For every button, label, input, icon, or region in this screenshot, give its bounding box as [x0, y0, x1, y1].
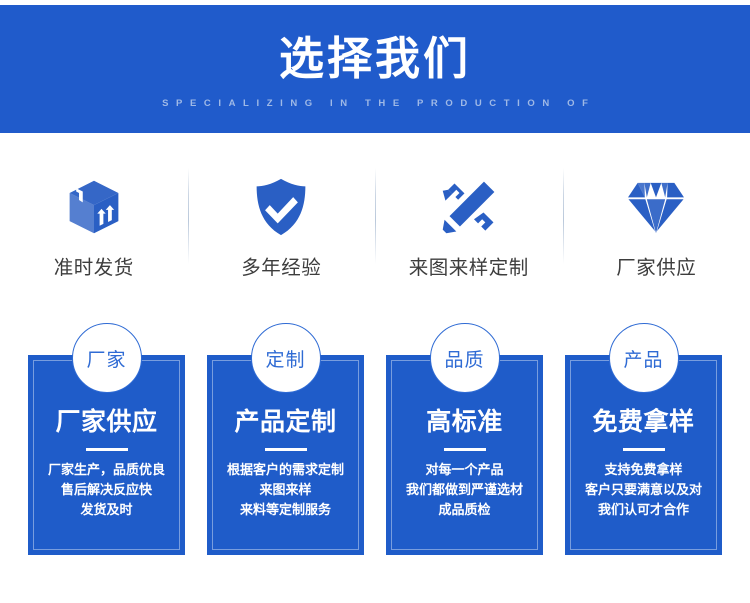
feature-list: 准时发货 多年经验 [0, 160, 750, 290]
card-body-line: 发货及时 [48, 500, 165, 520]
card-badge-label: 产品 [623, 345, 663, 372]
card-badge: 厂家 [72, 323, 142, 393]
page-subtitle: SPECIALIZING IN THE PRODUCTION OF [154, 98, 595, 109]
feature-label: 准时发货 [54, 251, 134, 280]
card-divider [444, 448, 486, 451]
card-body-line: 我们认可才合作 [585, 500, 702, 520]
card-title: 免费拿样 [592, 402, 694, 438]
feature-label: 来图来样定制 [409, 251, 529, 280]
card-title: 厂家供应 [55, 402, 157, 438]
card-body: 支持免费拿样 客户只要满意以及对 我们认可才合作 [579, 460, 708, 520]
page-title: 选择我们 [279, 36, 471, 81]
benefit-card-list: 厂家 厂家供应 厂家生产，品质优良 售后解决反应快 发货及时 定制 产品定制 根… [28, 355, 722, 555]
card-body-line: 根据客户的需求定制 [227, 460, 344, 480]
card-body-line: 来图来样 [227, 480, 344, 500]
card-body-line: 对每一个产品 [406, 460, 523, 480]
feature-item-factory-supply: 厂家供应 [563, 160, 750, 290]
card-body-line: 厂家生产，品质优良 [48, 460, 165, 480]
card-badge: 产品 [609, 323, 679, 393]
card-body: 厂家生产，品质优良 售后解决反应快 发货及时 [42, 460, 171, 520]
benefit-card-factory-supply: 厂家 厂家供应 厂家生产，品质优良 售后解决反应快 发货及时 [28, 355, 185, 555]
benefit-card-product-customization: 定制 产品定制 根据客户的需求定制 来图来样 来料等定制服务 [207, 355, 364, 555]
card-body-line: 客户只要满意以及对 [585, 480, 702, 500]
card-title: 高标准 [426, 402, 503, 438]
package-box-icon [61, 174, 127, 240]
card-body-line: 成品质检 [406, 500, 523, 520]
feature-label: 厂家供应 [616, 251, 696, 280]
header-band: 选择我们 SPECIALIZING IN THE PRODUCTION OF [0, 5, 750, 133]
card-body-line: 售后解决反应快 [48, 480, 165, 500]
card-body-line: 支持免费拿样 [585, 460, 702, 480]
card-body-line: 我们都做到严谨选材 [406, 480, 523, 500]
card-body-line: 来料等定制服务 [227, 500, 344, 520]
card-divider [265, 448, 307, 451]
card-badge: 品质 [430, 323, 500, 393]
card-body: 对每一个产品 我们都做到严谨选材 成品质检 [400, 460, 529, 520]
ruler-pencil-icon [436, 174, 502, 240]
card-badge-label: 定制 [265, 345, 305, 372]
card-title: 产品定制 [234, 402, 336, 438]
promo-banner: 选择我们 SPECIALIZING IN THE PRODUCTION OF [0, 0, 750, 603]
card-divider [623, 448, 665, 451]
diamond-icon [623, 174, 689, 240]
shield-check-icon [248, 174, 314, 240]
benefit-card-high-standard: 品质 高标准 对每一个产品 我们都做到严谨选材 成品质检 [386, 355, 543, 555]
feature-item-custom-design: 来图来样定制 [375, 160, 563, 290]
card-body: 根据客户的需求定制 来图来样 来料等定制服务 [221, 460, 350, 520]
card-badge: 定制 [251, 323, 321, 393]
card-divider [86, 448, 128, 451]
feature-label: 多年经验 [241, 251, 321, 280]
card-badge-label: 品质 [444, 345, 484, 372]
feature-item-years-experience: 多年经验 [188, 160, 376, 290]
benefit-card-free-sample: 产品 免费拿样 支持免费拿样 客户只要满意以及对 我们认可才合作 [565, 355, 722, 555]
card-badge-label: 厂家 [86, 345, 126, 372]
feature-item-on-time-delivery: 准时发货 [0, 160, 188, 290]
